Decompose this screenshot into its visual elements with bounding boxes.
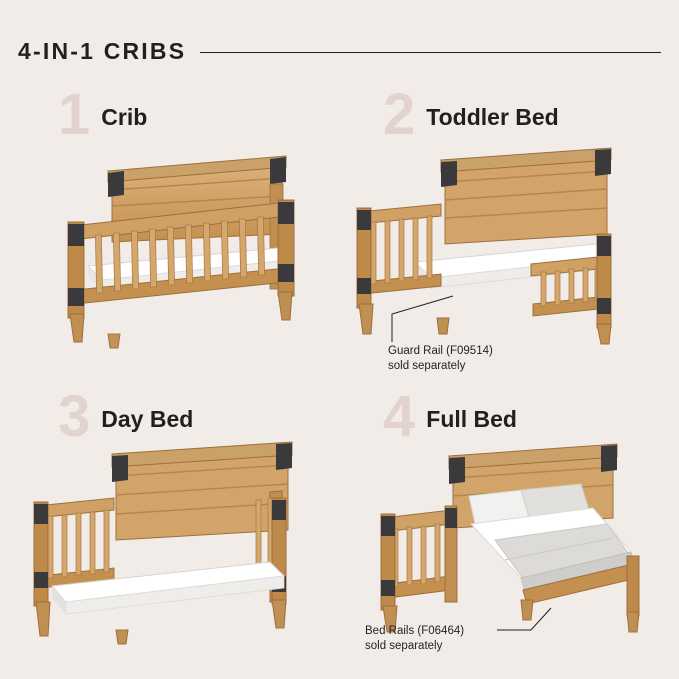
- step-number: 2: [383, 86, 414, 144]
- panel-title: Crib: [101, 104, 147, 131]
- panel-crib: 1 Crib: [20, 86, 340, 376]
- page-title: 4-IN-1 CRIBS: [18, 38, 186, 65]
- panel-full-bed: 4 Full Bed: [345, 388, 665, 678]
- daybed-mattress: [52, 562, 284, 614]
- panel-toddler-bed: 2 Toddler Bed: [345, 86, 665, 376]
- guard-rail-callout: Guard Rail (F09514) sold separately: [388, 344, 493, 374]
- toddler-headboard: [441, 148, 611, 244]
- crib-illustration: [20, 138, 340, 353]
- panel-title: Full Bed: [426, 406, 517, 433]
- panel-day-bed: 3 Day Bed: [20, 388, 340, 678]
- toddler-left-rail: [357, 204, 441, 308]
- daybed-headboard: [112, 442, 292, 540]
- step-number: 1: [58, 86, 89, 144]
- step-number: 4: [383, 388, 414, 446]
- panel-title: Day Bed: [101, 406, 193, 433]
- full-bed-illustration: [345, 440, 665, 655]
- day-bed-illustration: [20, 440, 340, 655]
- step-number: 3: [58, 388, 89, 446]
- fullbed-left-rail: [381, 506, 457, 610]
- infographic-page: 4-IN-1 CRIBS 1 Crib: [0, 0, 679, 679]
- toddler-bed-illustration: [345, 138, 665, 353]
- panel-title: Toddler Bed: [426, 104, 558, 131]
- bed-rails-callout: Bed Rails (F06464) sold separately: [365, 624, 464, 654]
- header: 4-IN-1 CRIBS: [18, 34, 661, 68]
- header-divider: [200, 52, 661, 53]
